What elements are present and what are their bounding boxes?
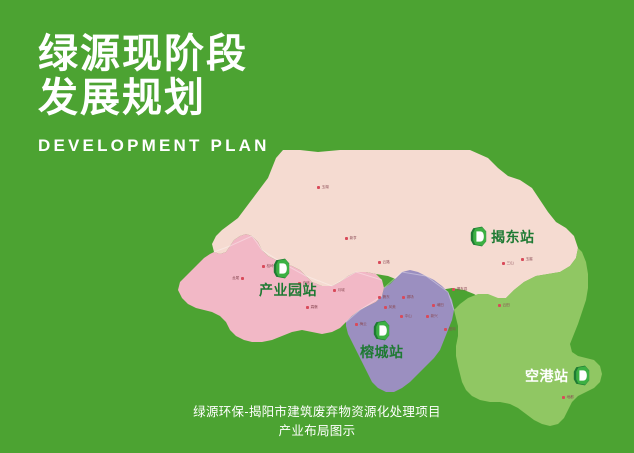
- town-dot-icon: [444, 328, 447, 331]
- town-marker: 霖磐: [306, 305, 318, 310]
- green-leaf-logo-icon: [373, 320, 390, 341]
- town-dot-icon: [355, 323, 358, 326]
- town-marker: 玉湖: [317, 185, 329, 190]
- town-label: 磐东: [383, 295, 390, 300]
- map-marker-jiedong-station[interactable]: 揭东站: [470, 226, 535, 247]
- page-title-line-1: 绿源现阶段: [38, 32, 270, 76]
- town-marker: 凤美: [384, 305, 396, 310]
- town-marker: 磐东: [378, 295, 390, 300]
- caption-line-1: 绿源环保-揭阳市建筑废弃物资源化处理项目: [0, 403, 634, 422]
- map-marker-rongcheng-station[interactable]: 榕城站: [360, 320, 404, 362]
- town-label: 凤美: [389, 305, 396, 310]
- station-label-jiedong: 揭东站: [491, 227, 535, 247]
- town-marker: 龙尾: [232, 276, 244, 281]
- town-label: 云田: [503, 303, 510, 308]
- town-marker: 埔田: [432, 303, 444, 308]
- caption-line-2: 产业布局图示: [0, 422, 634, 441]
- town-marker: 中山: [400, 314, 412, 319]
- town-marker: 玉窖: [521, 257, 533, 262]
- town-dot-icon: [498, 304, 501, 307]
- page-title-line-2: 发展规划: [38, 76, 270, 120]
- town-dot-icon: [317, 186, 320, 189]
- town-dot-icon: [426, 315, 429, 318]
- town-dot-icon: [400, 315, 403, 318]
- town-dot-icon: [384, 306, 387, 309]
- station-label-konggang: 空港站: [525, 366, 569, 386]
- town-dot-icon: [502, 262, 505, 265]
- town-marker: 新兴: [426, 314, 438, 319]
- town-label: 新兴: [431, 314, 438, 319]
- green-leaf-logo-icon: [573, 365, 590, 386]
- green-leaf-logo-icon: [273, 258, 290, 279]
- town-marker: 新亨: [345, 236, 357, 241]
- town-dot-icon: [306, 306, 309, 309]
- town-label: 玉窖: [526, 257, 533, 262]
- town-label: 揭东县: [457, 287, 468, 292]
- town-dot-icon: [432, 304, 435, 307]
- town-label: 锡场: [407, 295, 414, 300]
- town-dot-icon: [378, 296, 381, 299]
- station-label-rongcheng: 榕城站: [360, 342, 404, 362]
- town-label: 中山: [405, 314, 412, 319]
- town-marker: 锡场: [402, 295, 414, 300]
- town-label: 新亨: [350, 236, 357, 241]
- town-marker: 云田: [498, 303, 510, 308]
- town-dot-icon: [521, 258, 524, 261]
- town-marker: 地都: [562, 395, 574, 400]
- poster-caption: 绿源环保-揭阳市建筑废弃物资源化处理项目 产业布局图示: [0, 403, 634, 441]
- town-dot-icon: [241, 277, 244, 280]
- town-label: 玉湖: [322, 185, 329, 190]
- town-marker: 登岗: [444, 327, 456, 332]
- town-marker: 云路: [378, 260, 390, 265]
- page-subtitle-english: DEVELOPMENT PLAN: [38, 136, 270, 156]
- town-marker: 三山: [502, 261, 514, 266]
- town-label: 霖磐: [311, 305, 318, 310]
- town-label: 三山: [507, 261, 514, 266]
- town-label: 月城: [338, 288, 345, 293]
- green-leaf-logo-icon: [470, 226, 487, 247]
- town-dot-icon: [345, 237, 348, 240]
- town-dot-icon: [402, 296, 405, 299]
- town-dot-icon: [452, 288, 455, 291]
- town-label: 龙尾: [232, 276, 239, 281]
- town-dot-icon: [378, 261, 381, 264]
- town-label: 登岗: [449, 327, 456, 332]
- development-plan-poster: 绿源现阶段 发展规划 DEVELOPMENT PLAN 揭东站 产业园站: [0, 0, 634, 453]
- map-marker-konggang-station[interactable]: 空港站: [525, 365, 590, 386]
- town-label: 地都: [567, 395, 574, 400]
- title-block: 绿源现阶段 发展规划 DEVELOPMENT PLAN: [38, 32, 270, 156]
- station-label-chanyeyuan: 产业园站: [259, 280, 317, 300]
- town-marker: 月城: [333, 288, 345, 293]
- town-marker: 揭东县: [452, 287, 467, 292]
- town-label: 埔田: [437, 303, 444, 308]
- town-label: 云路: [383, 260, 390, 265]
- map-marker-chanyeyuan-station[interactable]: 产业园站: [259, 258, 317, 300]
- town-dot-icon: [333, 289, 336, 292]
- town-dot-icon: [562, 396, 565, 399]
